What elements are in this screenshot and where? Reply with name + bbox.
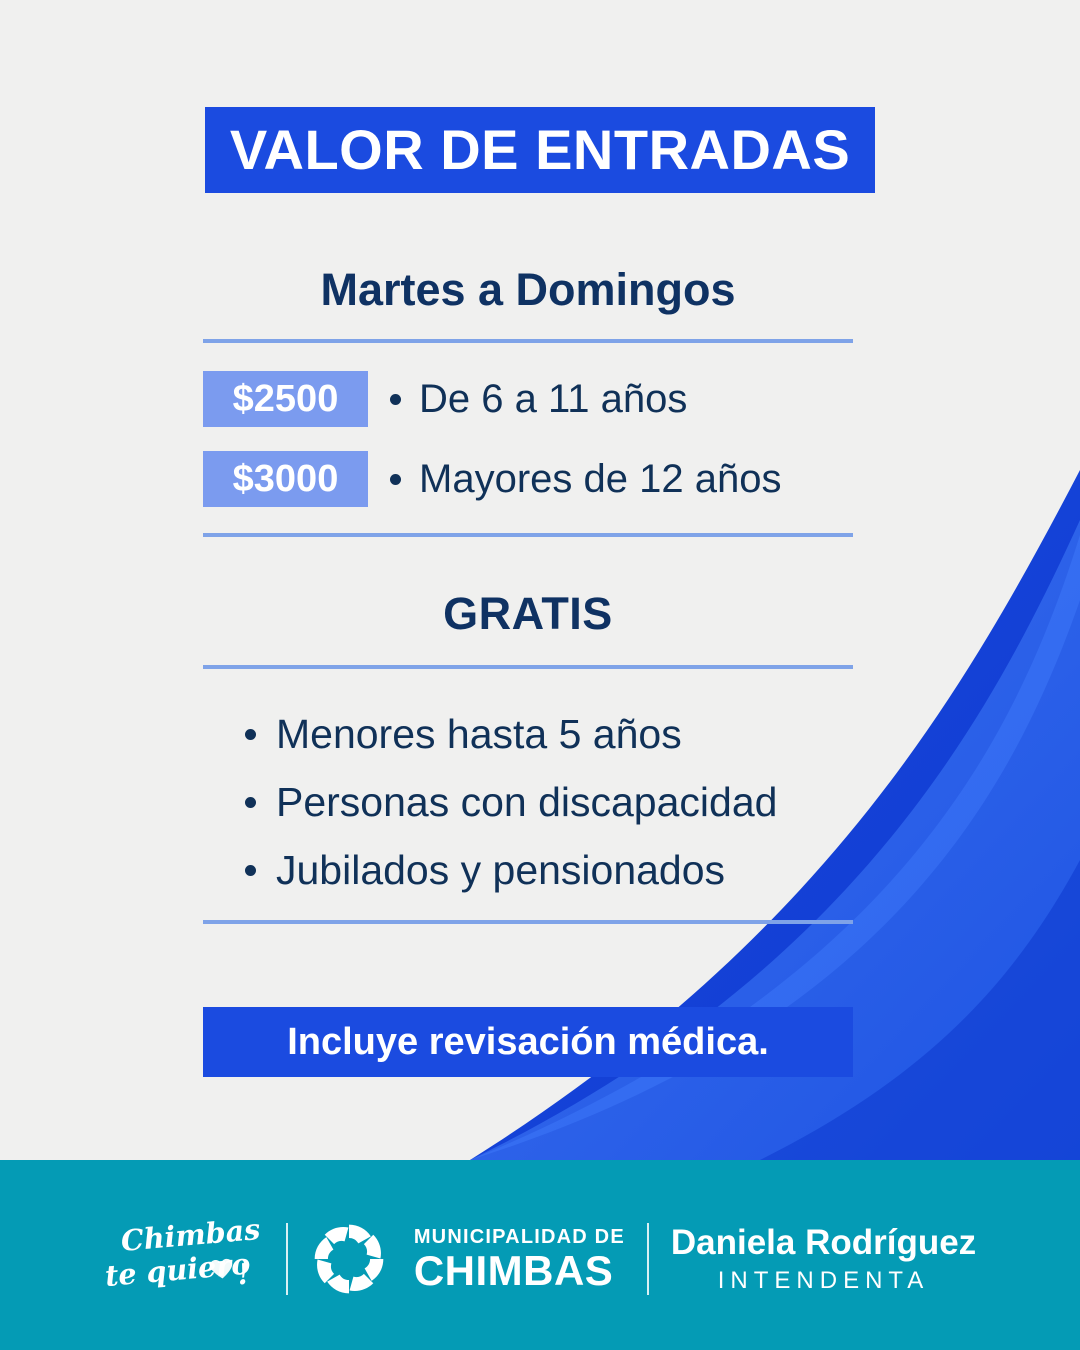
municipality-line-1: MUNICIPALIDAD DE	[414, 1227, 625, 1247]
mayor-block: Daniela Rodríguez INTENDENTA	[671, 1225, 976, 1293]
title-banner: VALOR DE ENTRADAS	[205, 107, 875, 193]
poster-canvas: VALOR DE ENTRADAS Martes a Domingos $250…	[0, 0, 1080, 1350]
list-item: Personas con discapacidad	[203, 768, 853, 836]
divider-rule-mid	[203, 533, 853, 537]
divider-rule-bottom	[203, 920, 853, 924]
footer-logos: Chimbas te quiero !	[104, 1216, 976, 1302]
divider-rule-free-top	[203, 665, 853, 669]
price-row: $3000 Mayores de 12 años	[203, 451, 781, 507]
divider-rule-top	[203, 339, 853, 343]
schedule-section-heading: Martes a Domingos	[203, 264, 853, 316]
mayor-name: Daniela Rodríguez	[671, 1225, 976, 1260]
mayor-role: INTENDENTA	[671, 1269, 976, 1293]
note-text: Incluye revisación médica.	[287, 1021, 769, 1064]
footer-divider-1	[286, 1223, 288, 1295]
price-description-wrap: De 6 a 11 años	[390, 377, 687, 422]
price-description-wrap: Mayores de 12 años	[390, 457, 781, 502]
chimbas-te-quiero-logo: Chimbas te quiero !	[104, 1216, 264, 1302]
note-banner: Incluye revisación médica.	[203, 1007, 853, 1077]
free-item-label: Personas con discapacidad	[276, 779, 777, 826]
price-description: De 6 a 11 años	[419, 377, 687, 422]
free-section-heading: GRATIS	[203, 588, 853, 640]
list-item: Menores hasta 5 años	[203, 700, 853, 768]
price-description: Mayores de 12 años	[419, 457, 781, 502]
free-item-label: Jubilados y pensionados	[276, 847, 725, 894]
price-badge: $2500	[203, 371, 368, 427]
free-items-list: Menores hasta 5 años Personas con discap…	[203, 700, 853, 904]
blue-swoosh-decoration	[0, 0, 1080, 1350]
list-item: Jubilados y pensionados	[203, 836, 853, 904]
footer-divider-2	[647, 1223, 649, 1295]
bullet-dot-icon	[390, 474, 401, 485]
municipality-line-2: CHIMBAS	[414, 1250, 625, 1292]
price-badge: $3000	[203, 451, 368, 507]
bullet-dot-icon	[390, 394, 401, 405]
municipality-wordmark: MUNICIPALIDAD DE CHIMBAS	[414, 1227, 625, 1292]
price-row: $2500 De 6 a 11 años	[203, 371, 687, 427]
chimbas-municipality-logo-icon	[310, 1220, 388, 1298]
bullet-dot-icon	[245, 729, 256, 740]
bullet-dot-icon	[245, 865, 256, 876]
bullet-dot-icon	[245, 797, 256, 808]
page-title: VALOR DE ENTRADAS	[230, 122, 850, 178]
footer-bar: Chimbas te quiero !	[0, 1160, 1080, 1350]
free-item-label: Menores hasta 5 años	[276, 711, 682, 758]
